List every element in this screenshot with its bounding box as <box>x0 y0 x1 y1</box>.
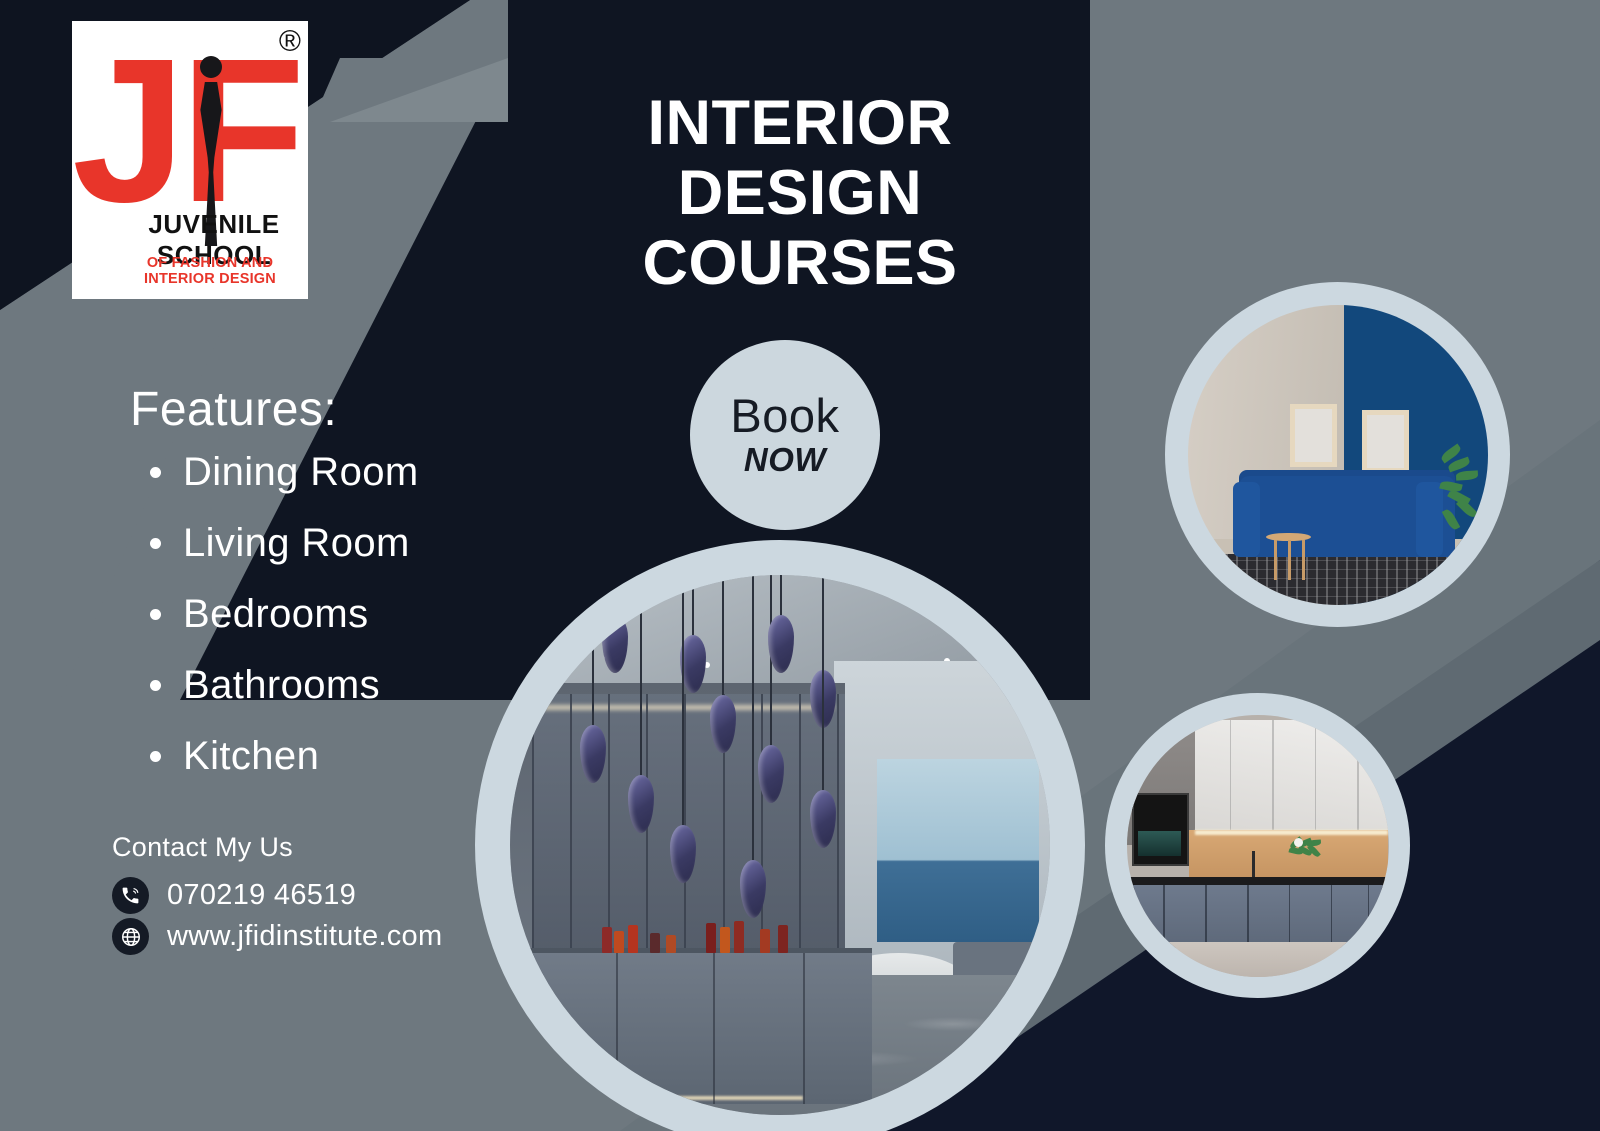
bullet-icon <box>150 680 161 691</box>
book-now-button[interactable]: Book NOW <box>690 340 880 530</box>
book-now-secondary-label: NOW <box>744 441 826 479</box>
headline-line-3: COURSES <box>510 228 1090 298</box>
bullet-icon <box>150 751 161 762</box>
website-url: www.jfidinstitute.com <box>167 920 442 953</box>
photo-inner <box>1188 305 1488 605</box>
photo-bar-bathroom-interior[interactable] <box>475 540 1085 1131</box>
contact-website[interactable]: www.jfidinstitute.com <box>112 918 442 955</box>
photo-inner <box>1127 715 1389 977</box>
phone-call-icon <box>112 877 149 914</box>
logo-letters: JFD <box>72 31 308 231</box>
contact-heading: Contact My Us <box>112 832 293 863</box>
features-list: Dining Room Living Room Bedrooms Bathroo… <box>150 450 419 805</box>
feature-label: Dining Room <box>183 450 419 495</box>
feature-label: Kitchen <box>183 734 319 779</box>
feature-label: Bathrooms <box>183 663 380 708</box>
list-item: Dining Room <box>150 450 419 495</box>
list-item: Kitchen <box>150 734 419 779</box>
bullet-icon <box>150 538 161 549</box>
feature-label: Bedrooms <box>183 592 369 637</box>
headline-line-1: INTERIOR <box>510 88 1090 158</box>
jfid-logo[interactable]: ® JFD JUVENILE SCHOOL OF FASHION AND INT… <box>72 21 308 299</box>
logo-school-tagline: OF FASHION AND INTERIOR DESIGN <box>72 255 308 287</box>
photo-kitchen-interior[interactable] <box>1105 693 1410 998</box>
list-item: Bedrooms <box>150 592 419 637</box>
bar-scene <box>510 575 1050 1115</box>
book-now-primary-label: Book <box>730 391 839 441</box>
photo-living-room-interior[interactable] <box>1165 282 1510 627</box>
phone-number: 070219 46519 <box>167 879 356 912</box>
features-heading: Features: <box>130 382 337 437</box>
feature-label: Living Room <box>183 521 410 566</box>
bullet-icon <box>150 467 161 478</box>
globe-icon <box>112 918 149 955</box>
bullet-icon <box>150 609 161 620</box>
headline-line-2: DESIGN <box>510 158 1090 228</box>
logo-mark: JFD <box>72 31 308 236</box>
photo-inner <box>510 575 1050 1115</box>
list-item: Bathrooms <box>150 663 419 708</box>
poster-canvas: ® JFD JUVENILE SCHOOL OF FASHION AND INT… <box>0 0 1600 1131</box>
list-item: Living Room <box>150 521 419 566</box>
contact-phone[interactable]: 070219 46519 <box>112 877 356 914</box>
page-title: INTERIOR DESIGN COURSES <box>510 88 1090 298</box>
